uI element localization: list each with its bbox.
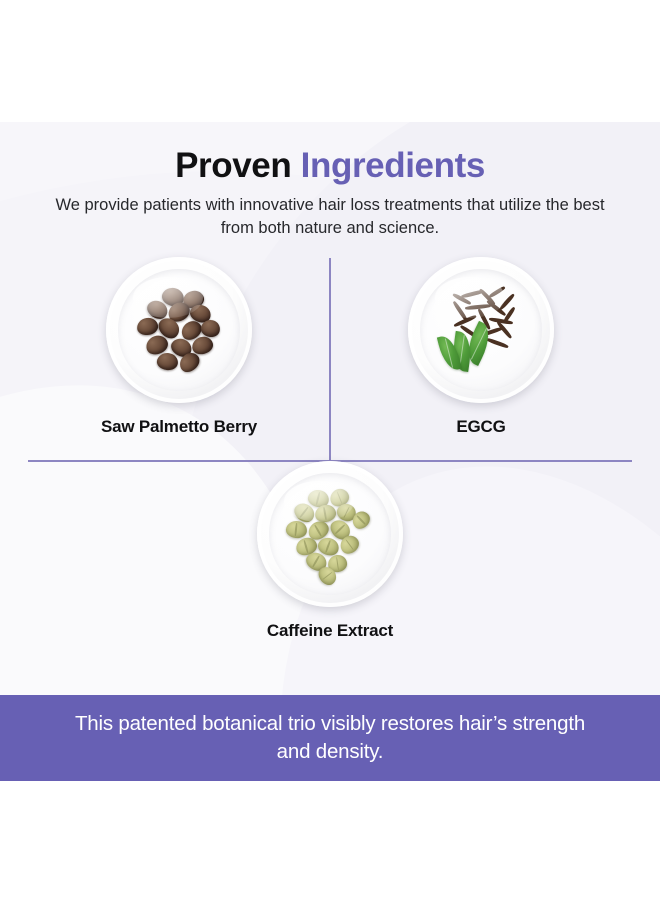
- caffeine-extract-image: [257, 461, 403, 607]
- egcg-image: [408, 257, 554, 403]
- petri-dish-rim: [408, 257, 554, 403]
- saw-palmetto-berry-image: [106, 257, 252, 403]
- ingredient-label: Saw Palmetto Berry: [101, 417, 257, 437]
- bottom-claim-banner: This patented botanical trio visibly res…: [0, 695, 660, 781]
- page-title: Proven Ingredients: [0, 122, 660, 185]
- petri-dish: [257, 461, 403, 607]
- product-ingredients-infographic: Proven Ingredients We provide patients w…: [0, 0, 660, 904]
- banner-text: This patented botanical trio visibly res…: [56, 710, 604, 767]
- ingredients-grid: Saw Palmetto Berry: [0, 257, 660, 641]
- ingredient-label: Caffeine Extract: [267, 621, 393, 641]
- panel-content: Proven Ingredients We provide patients w…: [0, 122, 660, 781]
- ingredient-card-saw-palmetto-berry: Saw Palmetto Berry: [28, 257, 330, 437]
- ingredients-row-two: Caffeine Extract: [0, 461, 660, 641]
- ingredient-card-egcg: EGCG: [330, 257, 632, 437]
- ingredient-label: EGCG: [456, 417, 505, 437]
- title-accent-part: Ingredients: [301, 146, 485, 185]
- petri-dish: [408, 257, 554, 403]
- petri-dish-rim: [257, 461, 403, 607]
- page-subtitle: We provide patients with innovative hair…: [42, 194, 618, 239]
- vertical-divider: [329, 258, 331, 461]
- title-plain-part: Proven: [175, 146, 291, 185]
- content-panel: Proven Ingredients We provide patients w…: [0, 122, 660, 781]
- ingredient-card-caffeine-extract: Caffeine Extract: [179, 461, 481, 641]
- petri-dish-rim: [106, 257, 252, 403]
- petri-dish: [106, 257, 252, 403]
